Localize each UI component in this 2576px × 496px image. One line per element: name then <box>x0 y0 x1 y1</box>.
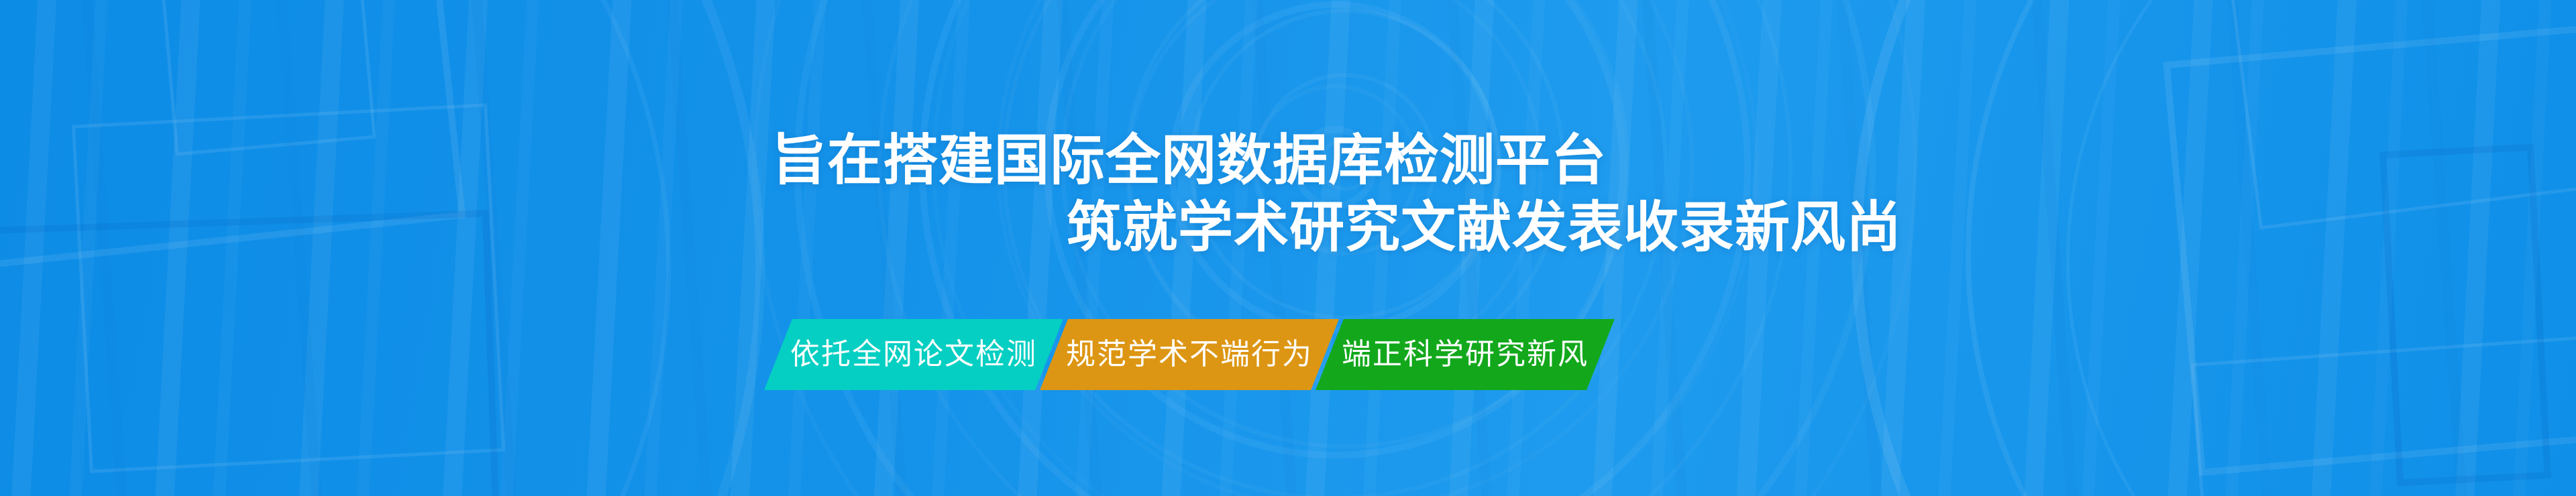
headline-line-1: 旨在搭建国际全网数据库检测平台 <box>0 127 2576 194</box>
headline-line-2: 筑就学术研究文献发表收录新风尚 <box>0 194 2576 261</box>
feature-tag-2[interactable]: 规范学术不端行为 <box>1040 319 1339 390</box>
headline-block: 旨在搭建国际全网数据库检测平台 筑就学术研究文献发表收录新风尚 <box>0 127 2576 261</box>
feature-tag-strip: 依托全网论文检测 规范学术不端行为 端正科学研究新风 <box>778 319 1601 390</box>
feature-tag-2-label: 规范学术不端行为 <box>1066 340 1313 369</box>
feature-tag-1[interactable]: 依托全网论文检测 <box>764 319 1063 390</box>
feature-tag-3[interactable]: 端正科学研究新风 <box>1316 319 1615 390</box>
feature-tag-1-label: 依托全网论文检测 <box>790 340 1037 369</box>
hero-banner: 旨在搭建国际全网数据库检测平台 筑就学术研究文献发表收录新风尚 依托全网论文检测… <box>0 0 2576 496</box>
feature-tag-3-label: 端正科学研究新风 <box>1342 340 1589 369</box>
